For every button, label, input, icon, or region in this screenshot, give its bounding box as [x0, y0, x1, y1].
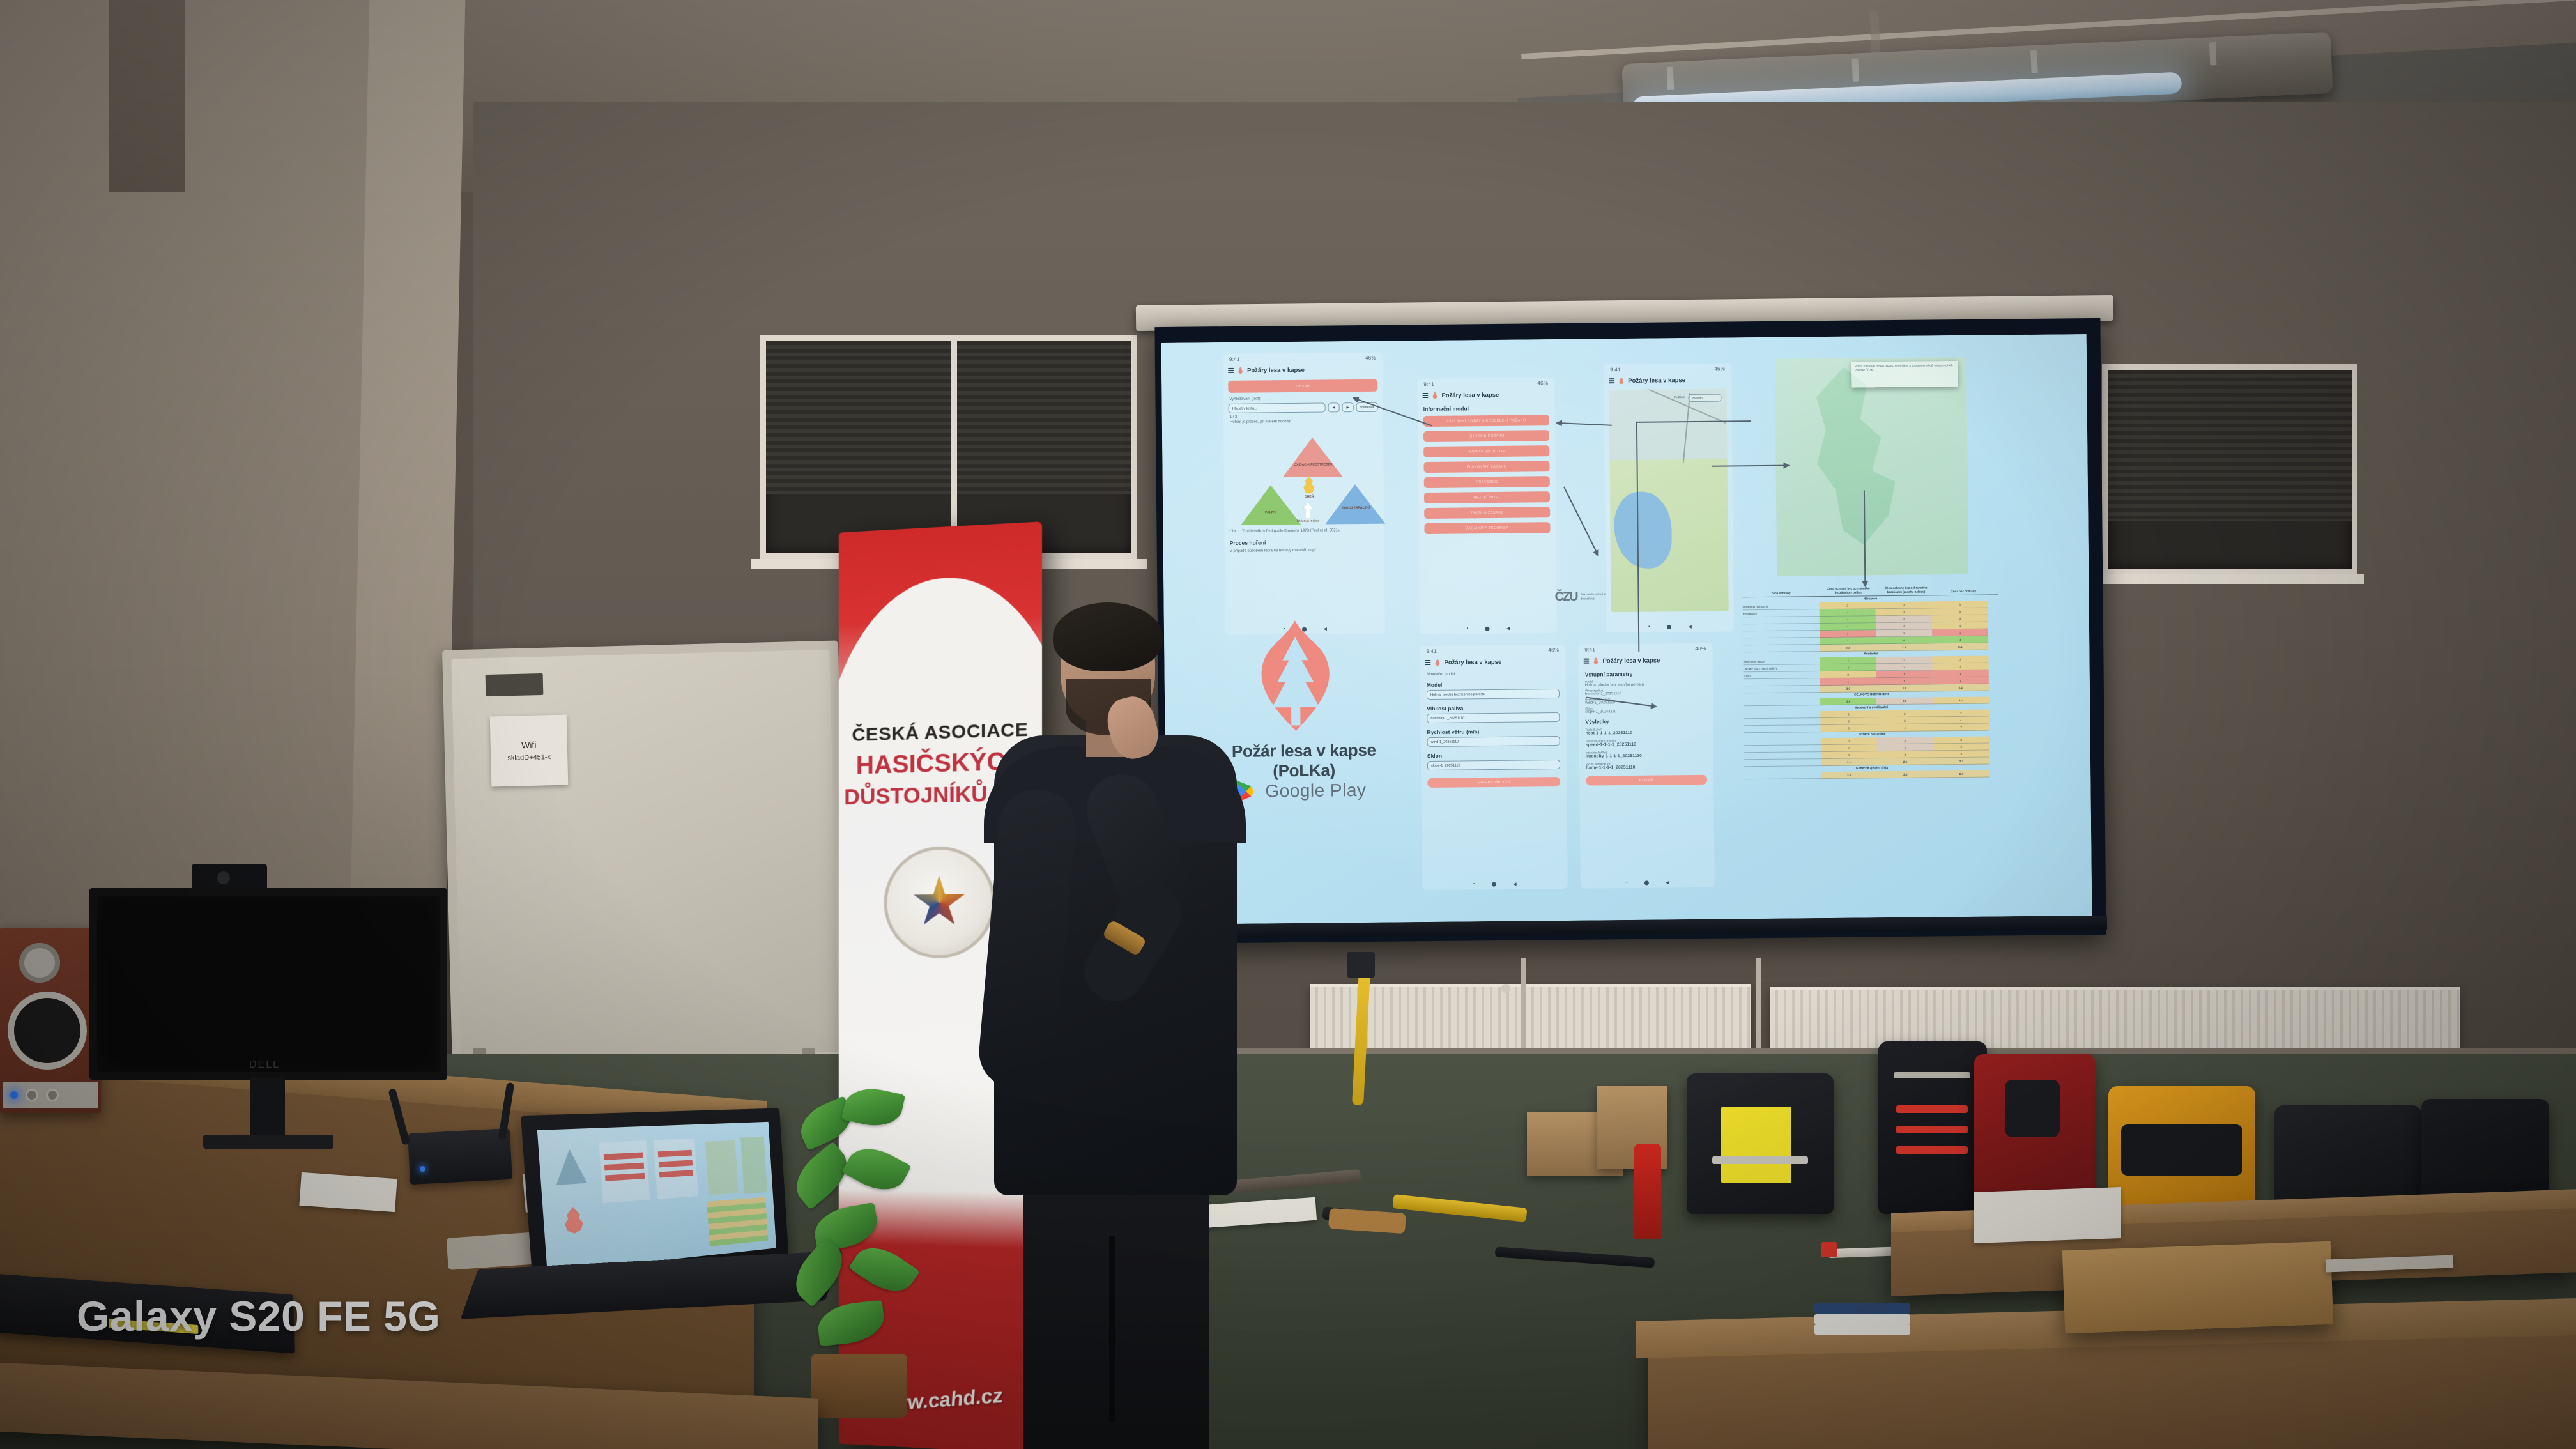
cahd-seal-logo — [884, 846, 995, 959]
table-cell: 3 — [1821, 738, 1877, 746]
phone3-statusbar: 9:41 46% — [1420, 647, 1565, 655]
phone3-status-right: 46% — [1548, 647, 1559, 654]
notebook-blue — [1814, 1303, 1910, 1314]
table-total-cell: 3.0 — [1877, 771, 1933, 779]
light-clip — [1667, 67, 1675, 90]
phone1-title: Požáry lesa v kapse — [1247, 366, 1305, 374]
table-cell: 4 — [1876, 637, 1932, 645]
table-total-cell: 3.1 — [1932, 643, 1988, 651]
table-cell: 3 — [1820, 602, 1876, 610]
map-lake — [1614, 491, 1672, 569]
phone4-result-value: speed-1-1-1-1_20251110 — [1586, 742, 1707, 747]
monitor-base — [203, 1135, 333, 1149]
phone1-status-left: 9:41 — [1229, 356, 1240, 364]
speaker-control-panel[interactable] — [3, 1082, 98, 1108]
table-cell: 3 — [1820, 718, 1876, 726]
phone1-content: OBSAH Vyhledávání (text) Hledat v textu.… — [1228, 379, 1379, 553]
triangle-oxidizer — [1282, 437, 1343, 477]
table-cell: 1 — [1933, 670, 1989, 678]
table-cell: 3 — [1876, 717, 1933, 725]
phone4-status-right: 46% — [1695, 646, 1706, 653]
phone1-prev-button[interactable]: ◀ — [1328, 402, 1340, 412]
android-navbar[interactable]: ▪⬤◀ — [1422, 881, 1568, 887]
phone2-menu-item[interactable]: BEZPEČNOST — [1424, 491, 1550, 503]
phone4-statusbar: 9:41 46% — [1578, 646, 1712, 654]
speaker-volume-knob[interactable] — [26, 1089, 38, 1101]
table-cell: 1 — [1876, 671, 1933, 678]
table-cell: 3 — [1932, 615, 1988, 623]
backpack-pocket — [2005, 1080, 2060, 1137]
table-cell: 4 — [1932, 636, 1988, 644]
phone4-appbar: Požáry lesa v kapse — [1578, 655, 1712, 666]
table-body: NárazovéOchranná (primární)333Restaurace… — [1743, 595, 2000, 780]
seal-star-icon — [912, 875, 966, 930]
phone4-results-heading: Výsledky — [1585, 717, 1706, 725]
phone2-menu-item[interactable]: ZÁKLADNÍ POJMY A ROZDĚLENÍ POŽÁRŮ — [1423, 415, 1549, 427]
table-total-cell: 1.8 — [1876, 685, 1933, 693]
phone4-result-value: flame-1-1-1-1_20251110 — [1586, 765, 1707, 770]
phone3-status-left: 9:41 — [1426, 648, 1437, 655]
window-mullion — [951, 341, 957, 553]
table-total-cell: 2.7 — [1933, 770, 1989, 778]
photo-scene: 9:41 46% Požáry lesa v kapse OBSAH Vyhle… — [0, 0, 2576, 1449]
map-note-box: Vrstva zobrazuje rozsah požáru, směr šíř… — [1851, 361, 1958, 388]
red-stripe — [1896, 1146, 1968, 1154]
table-total-cell: 2.2 — [1933, 684, 1989, 692]
phone5-status-right: 46% — [1714, 366, 1725, 373]
triangle-center-label: OHEŇ — [1296, 495, 1322, 499]
table-cell: 3 — [1933, 751, 1989, 758]
polka-flame-tree-icon — [1241, 616, 1351, 735]
table-cell: 2 — [1821, 745, 1877, 753]
table-cell: 3 — [1877, 751, 1933, 759]
backpack-yellow-panel — [1721, 1107, 1791, 1183]
table-cell: 2 — [1876, 630, 1932, 638]
phone1-appbar: Požáry lesa v kapse — [1223, 364, 1383, 376]
flame-center-icon — [1302, 476, 1316, 494]
phone-mockup-1: 9:41 46% Požáry lesa v kapse OBSAH Vyhle… — [1223, 353, 1385, 635]
phone5-title: Požáry lesa v kapse — [1628, 377, 1685, 385]
phone1-search-input[interactable]: Hledat v textu... — [1229, 403, 1326, 413]
flame-icon — [1434, 659, 1440, 666]
phone3-field-label: Rychlost větru (m/s) — [1427, 728, 1560, 735]
window-sill-right — [2096, 574, 2364, 584]
table-cell: 1 — [1933, 677, 1989, 685]
phone3-form: Simulační modul Model Holina, plocha bez… — [1427, 671, 1561, 788]
backpack-black-yellow — [1687, 1073, 1834, 1214]
triangle-oxidizer-label: OXIDAČNÍ PROSTŘEDEK — [1287, 463, 1338, 467]
table-cell: 4 — [1820, 657, 1876, 665]
map-region-shape — [1795, 367, 1912, 553]
table-cell: 2 — [1876, 616, 1932, 624]
phone3-model-select[interactable]: Holina, plocha bez lesního porostu — [1427, 689, 1560, 700]
table-cell: 1 — [1876, 678, 1933, 686]
table-col-header: Zóna ochrany bez ochranného bezzásahu s … — [1820, 586, 1876, 594]
slide-arrow-3 — [1563, 486, 1598, 555]
table-cell: 3 — [1821, 752, 1877, 760]
hamburger-menu-icon[interactable] — [1609, 378, 1614, 383]
whiteboard-magnet-clip — [486, 673, 544, 696]
cardboard-stack — [2062, 1241, 2333, 1334]
speaker-tweeter — [19, 943, 60, 983]
map-overview-panel: Vrstva zobrazuje rozsah požáru, směr šíř… — [1775, 357, 1968, 576]
table-cell: 3 — [1877, 737, 1933, 745]
whiteboard-surface — [451, 650, 839, 1061]
table-cell: 2 — [1933, 744, 1989, 751]
phone4-export-button[interactable]: EXPORT — [1586, 775, 1707, 786]
laptop-map-thumb-2 — [740, 1137, 767, 1194]
table-cell: 3 — [1933, 710, 1989, 717]
table-cell: 4 — [1932, 622, 1988, 630]
reflective-stripe — [1894, 1072, 1970, 1078]
phone2-menu-item[interactable]: PLÁNOVÁNÍ ZÁSAHU — [1423, 461, 1549, 473]
phone1-contents-button[interactable]: OBSAH — [1228, 379, 1377, 393]
notebook-stack — [1814, 1303, 1910, 1342]
table-cell: 1 — [1932, 629, 1988, 637]
table-cell: 4 — [1820, 638, 1876, 645]
flame-icon — [1593, 657, 1598, 664]
phone1-statusbar: 9:41 46% — [1223, 355, 1383, 364]
phone1-page-counter: 1 / 2 — [1230, 414, 1378, 419]
table-total-label — [1744, 686, 1820, 694]
wifi-note-value: skladD+451-x — [507, 753, 551, 762]
phone2-section-heading: Informační modul — [1423, 405, 1469, 412]
phone2-appbar: Požáry lesa v kapse — [1417, 389, 1554, 401]
red-stripe — [1896, 1126, 1968, 1133]
plant-leaf — [841, 1138, 911, 1200]
slide-canvas: 9:41 46% Požáry lesa v kapse OBSAH Vyhle… — [1161, 334, 2092, 924]
table-total-cell: 3.1 — [1821, 772, 1877, 779]
table-col-header: Zóna ochrany bez ochranného bezzásahu (z… — [1878, 586, 1934, 594]
laptop-table-thumb — [707, 1197, 768, 1246]
plant-leaf — [848, 1237, 920, 1302]
table-cell: 4 — [1820, 624, 1876, 631]
table-total-label — [1744, 772, 1821, 780]
table-cell: 3 — [1820, 671, 1876, 679]
table-total-cell: 2.8 — [1876, 644, 1932, 652]
window-left — [760, 335, 1137, 559]
phone3-submit-button[interactable]: SPUSTIT VÝPOČET — [1427, 777, 1560, 788]
speaker-tone-knob[interactable] — [46, 1089, 59, 1101]
light-clip — [2030, 50, 2038, 73]
triangle-ignition-label: ZDROJ ZAPÁLENÍ — [1330, 506, 1381, 510]
webcam-lens — [217, 871, 230, 884]
flame-icon — [1432, 392, 1437, 399]
phone5-appbar: Požáry lesa v kapse — [1604, 374, 1731, 386]
android-navbar[interactable]: ▪⬤◀ — [1581, 880, 1715, 886]
table-cell: 4 — [1820, 617, 1876, 624]
whiteboard — [442, 641, 848, 1072]
backpack-orange — [2108, 1086, 2255, 1214]
monitor-screen — [89, 888, 447, 1080]
monitor-stand — [250, 1077, 285, 1138]
map-note-text: Vrstva zobrazuje rozsah požáru, směr šíř… — [1851, 361, 1958, 375]
phone3-wind-select[interactable]: wind-1_20251110 — [1427, 736, 1560, 747]
monitor-brand-label: DELL — [249, 1059, 280, 1071]
chain-reaction-arrow-icon — [1303, 503, 1312, 519]
phone1-section-heading: Proces hoření — [1230, 538, 1379, 546]
presenter-leg-gap — [1109, 1236, 1115, 1422]
map-layer-label: Podklad — [1674, 395, 1685, 399]
assessment-table: Zóna ochrany Zóna ochrany bez ochranného… — [1742, 585, 2000, 779]
google-play-label: Google Play — [1265, 780, 1366, 802]
table-cell: 3 — [1933, 724, 1989, 732]
table-cell: 4 — [1876, 724, 1933, 732]
phone2-menu-item[interactable]: TAKTIKA ZÁSAHU — [1424, 507, 1550, 519]
light-clip — [1851, 58, 1859, 81]
studio-speaker — [0, 928, 101, 1113]
table-total-cell: 3.6 — [1820, 698, 1876, 706]
wifi-note-title: Wifi — [521, 740, 537, 751]
desktop-monitor: DELL — [89, 888, 447, 1080]
phone2-title: Požáry lesa v kapse — [1441, 391, 1499, 399]
laptop-map-thumb-1 — [705, 1140, 739, 1195]
wifi-note: Wifi skladD+451-x — [490, 715, 569, 787]
table-cell: 3 — [1820, 711, 1876, 719]
table-cell: 3 — [1932, 656, 1988, 664]
speaker-power-led — [10, 1091, 18, 1099]
window-blind — [2108, 370, 2352, 521]
notebook-white — [1814, 1314, 1910, 1324]
triangle-fuel-label: PALIVO — [1248, 510, 1293, 515]
table-cell: 3 — [1876, 609, 1932, 617]
phone3-section-heading: Simulační modul — [1427, 671, 1560, 677]
wall-nook — [109, 0, 185, 192]
router-led — [420, 1166, 425, 1172]
notebook-white — [1814, 1324, 1910, 1335]
phone-mockup-3: 9:41 46% Požáry lesa v kapse Simulační m… — [1420, 645, 1568, 890]
phone2-status-right: 46% — [1537, 380, 1548, 387]
table-total-label — [1743, 645, 1820, 653]
phone1-figure-caption: Obr. 1: Trojúhelník hoření podle Emmons … — [1229, 528, 1379, 535]
radiator-valve — [1501, 984, 1510, 993]
backpack-front-panel — [2121, 1124, 2242, 1176]
flame-icon — [1618, 378, 1624, 385]
speaker-woofer — [8, 992, 87, 1069]
flame-icon — [1238, 367, 1243, 374]
red-stripe — [1896, 1105, 1968, 1113]
phone1-go-button[interactable]: Vyhledat — [1356, 402, 1378, 412]
plant-leaf — [816, 1300, 886, 1347]
projection-screen: 9:41 46% Požáry lesa v kapse OBSAH Vyhle… — [1161, 334, 2092, 924]
potted-plant — [786, 1080, 933, 1418]
window-right — [2102, 364, 2357, 575]
table-total-cell: 3.1 — [1821, 759, 1877, 767]
presenter-hair — [1053, 602, 1163, 671]
table-cell: 1 — [1820, 631, 1876, 638]
phone4-input-value: slope-1_20251110 — [1585, 709, 1706, 714]
triangle-base-label: řetězová reakce — [1279, 519, 1337, 523]
table-col-header: Zóna bez ochrany — [1935, 589, 1991, 594]
table-total-label — [1744, 760, 1821, 767]
light-clip — [2209, 42, 2217, 65]
czu-logo: ČZU Fakulta lesnická a dřevařská — [1554, 589, 1609, 604]
table-cell: 3 — [1932, 608, 1988, 616]
phone5-statusbar: 9:41 46% — [1604, 365, 1731, 374]
table-cell: 4 — [1820, 664, 1876, 672]
phone3-field-label: Vlhkost paliva — [1427, 704, 1560, 712]
hamburger-menu-icon[interactable] — [1583, 659, 1589, 664]
table-cell: 3 — [1933, 663, 1989, 671]
phone3-humidity-select[interactable]: humidity-1_20251110 — [1427, 712, 1560, 723]
table-cell: 2 — [1876, 664, 1933, 671]
axe-head — [1347, 952, 1375, 977]
table-cell: 3 — [1876, 602, 1932, 609]
table-cell: 3 — [1876, 657, 1932, 664]
phone4-results: Vstupní parametry model Holina, plocha b… — [1585, 670, 1708, 786]
hamburger-menu-icon[interactable] — [1228, 368, 1234, 373]
reflective-stripe — [1712, 1156, 1808, 1164]
table-total-cell: 3.0 — [1820, 686, 1876, 693]
fire-extinguisher — [1634, 1144, 1661, 1239]
desk-papers-2 — [299, 1172, 397, 1212]
phone4-result-value: intensity-1-1-1-1_20251110 — [1586, 753, 1707, 759]
table-cell: 2 — [1876, 623, 1932, 631]
phone3-field-label: Sklon — [1427, 751, 1560, 759]
google-play-badge[interactable]: Google Play — [1229, 776, 1366, 806]
phone2-menu-list: ZÁKLADNÍ POJMY A ROZDĚLENÍ POŽÁRŮ CHOVÁN… — [1423, 415, 1551, 539]
table-total-cell: 2.9 — [1876, 698, 1933, 705]
phone1-next-button[interactable]: ▶ — [1342, 402, 1354, 412]
hamburger-menu-icon[interactable] — [1422, 393, 1428, 398]
table-cell: 1 — [1820, 678, 1876, 686]
map-layer-select[interactable]: Základní — [1688, 394, 1721, 402]
triangle-ignition — [1325, 484, 1386, 525]
phone4-status-left: 9:41 — [1584, 647, 1595, 654]
table-cell: 2 — [1877, 744, 1933, 752]
table-total-cell: 2.7 — [1933, 758, 1989, 765]
laptop-screen — [537, 1122, 776, 1273]
phone2-menu-item[interactable]: ZÁSAHOVÁ TECHNIKA — [1424, 522, 1550, 534]
table-total-cell: 3.1 — [1933, 697, 1989, 705]
phone4-input-heading: Vstupní parametry — [1585, 670, 1706, 678]
phone-mockup-2: 9:41 46% Požáry lesa v kapse Informační … — [1417, 378, 1557, 634]
phone4-result-value: heat-1-1-1-1_20251110 — [1586, 730, 1707, 736]
plant-leaf — [786, 1141, 857, 1210]
phone1-intro-text: Hoření je proces, při kterém dochází... — [1230, 419, 1378, 424]
czu-faculty-text: Fakulta lesnická a dřevařská — [1581, 592, 1610, 601]
phone2-menu-item[interactable]: CHOVÁNÍ POŽÁRU — [1423, 430, 1549, 442]
phone1-search-row: Hledat v textu... ◀ ▶ Vyhledat — [1229, 402, 1378, 413]
camera-watermark: Galaxy S20 FE 5G — [77, 1292, 440, 1340]
phone3-title: Požáry lesa v kapse — [1444, 658, 1501, 666]
hamburger-menu-icon[interactable] — [1425, 660, 1430, 665]
polka-logo — [1241, 616, 1351, 735]
table-cell: 4 — [1933, 717, 1989, 724]
table-col-header: Zóna ochrany — [1742, 591, 1819, 595]
table-cell: 3 — [1820, 725, 1876, 733]
fire-triangle-diagram: OXIDAČNÍ PROSTŘEDEK PALIVO ZDROJ ZAPÁLEN… — [1229, 428, 1379, 525]
phone3-slope-select[interactable]: slope-1_20251110 — [1427, 760, 1560, 770]
phone4-title: Požáry lesa v kapse — [1602, 657, 1660, 664]
phone2-status-left: 9:41 — [1423, 381, 1434, 388]
plant-pot — [811, 1354, 907, 1418]
window-blind — [766, 341, 1131, 494]
phone2-statusbar: 9:41 46% — [1417, 380, 1554, 388]
table-row-label — [1744, 726, 1820, 733]
phone4-input-value: Holina, plocha bez lesního porostu — [1585, 682, 1706, 687]
table-cell: 3 — [1876, 710, 1933, 718]
table-total-cell: 2.6 — [1877, 758, 1933, 766]
presenter-legs — [1023, 1172, 1209, 1449]
table-cell: 3 — [1932, 601, 1988, 609]
table-total-label — [1744, 699, 1820, 707]
phone2-menu-item[interactable]: PREVENCE — [1424, 476, 1550, 488]
phone2-menu-item[interactable]: HODNOCENÍ RIZIKA — [1423, 445, 1549, 457]
phone-mockup-4: 9:41 46% Požáry lesa v kapse Vstupní par… — [1578, 643, 1715, 889]
laptop-phone-thumb-1 — [599, 1140, 650, 1203]
table-total-cell: 3.3 — [1820, 645, 1876, 652]
desk-paper-sheet — [1974, 1187, 2121, 1243]
pole-end-cap — [1821, 1242, 1837, 1257]
presenter — [984, 610, 1239, 1449]
android-navbar[interactable]: ▪⬤◀ — [1606, 624, 1734, 630]
android-navbar[interactable]: ▪⬤◀ — [1420, 625, 1557, 632]
phone5-status-left: 9:41 — [1610, 367, 1621, 374]
laptop-phone-thumb-2 — [654, 1138, 698, 1199]
table-cell: 3 — [1933, 737, 1989, 744]
phone3-field-label: Model — [1427, 680, 1560, 688]
plant-leaf — [841, 1083, 905, 1131]
phone-mockup-5: 9:41 46% Požáry lesa v kapse Základní Po… — [1604, 363, 1734, 632]
phone4-input-value: humidity-1_20251110 — [1585, 691, 1706, 696]
czu-logo-text: ČZU — [1554, 590, 1577, 604]
phone1-status-right: 46% — [1365, 355, 1376, 362]
phone1-section-text: V případě působení tepla na hořlavý mate… — [1230, 548, 1379, 553]
table-cell: 4 — [1820, 609, 1876, 617]
phone3-appbar: Požáry lesa v kapse — [1420, 656, 1565, 668]
backpack-black-red — [1878, 1041, 1987, 1214]
